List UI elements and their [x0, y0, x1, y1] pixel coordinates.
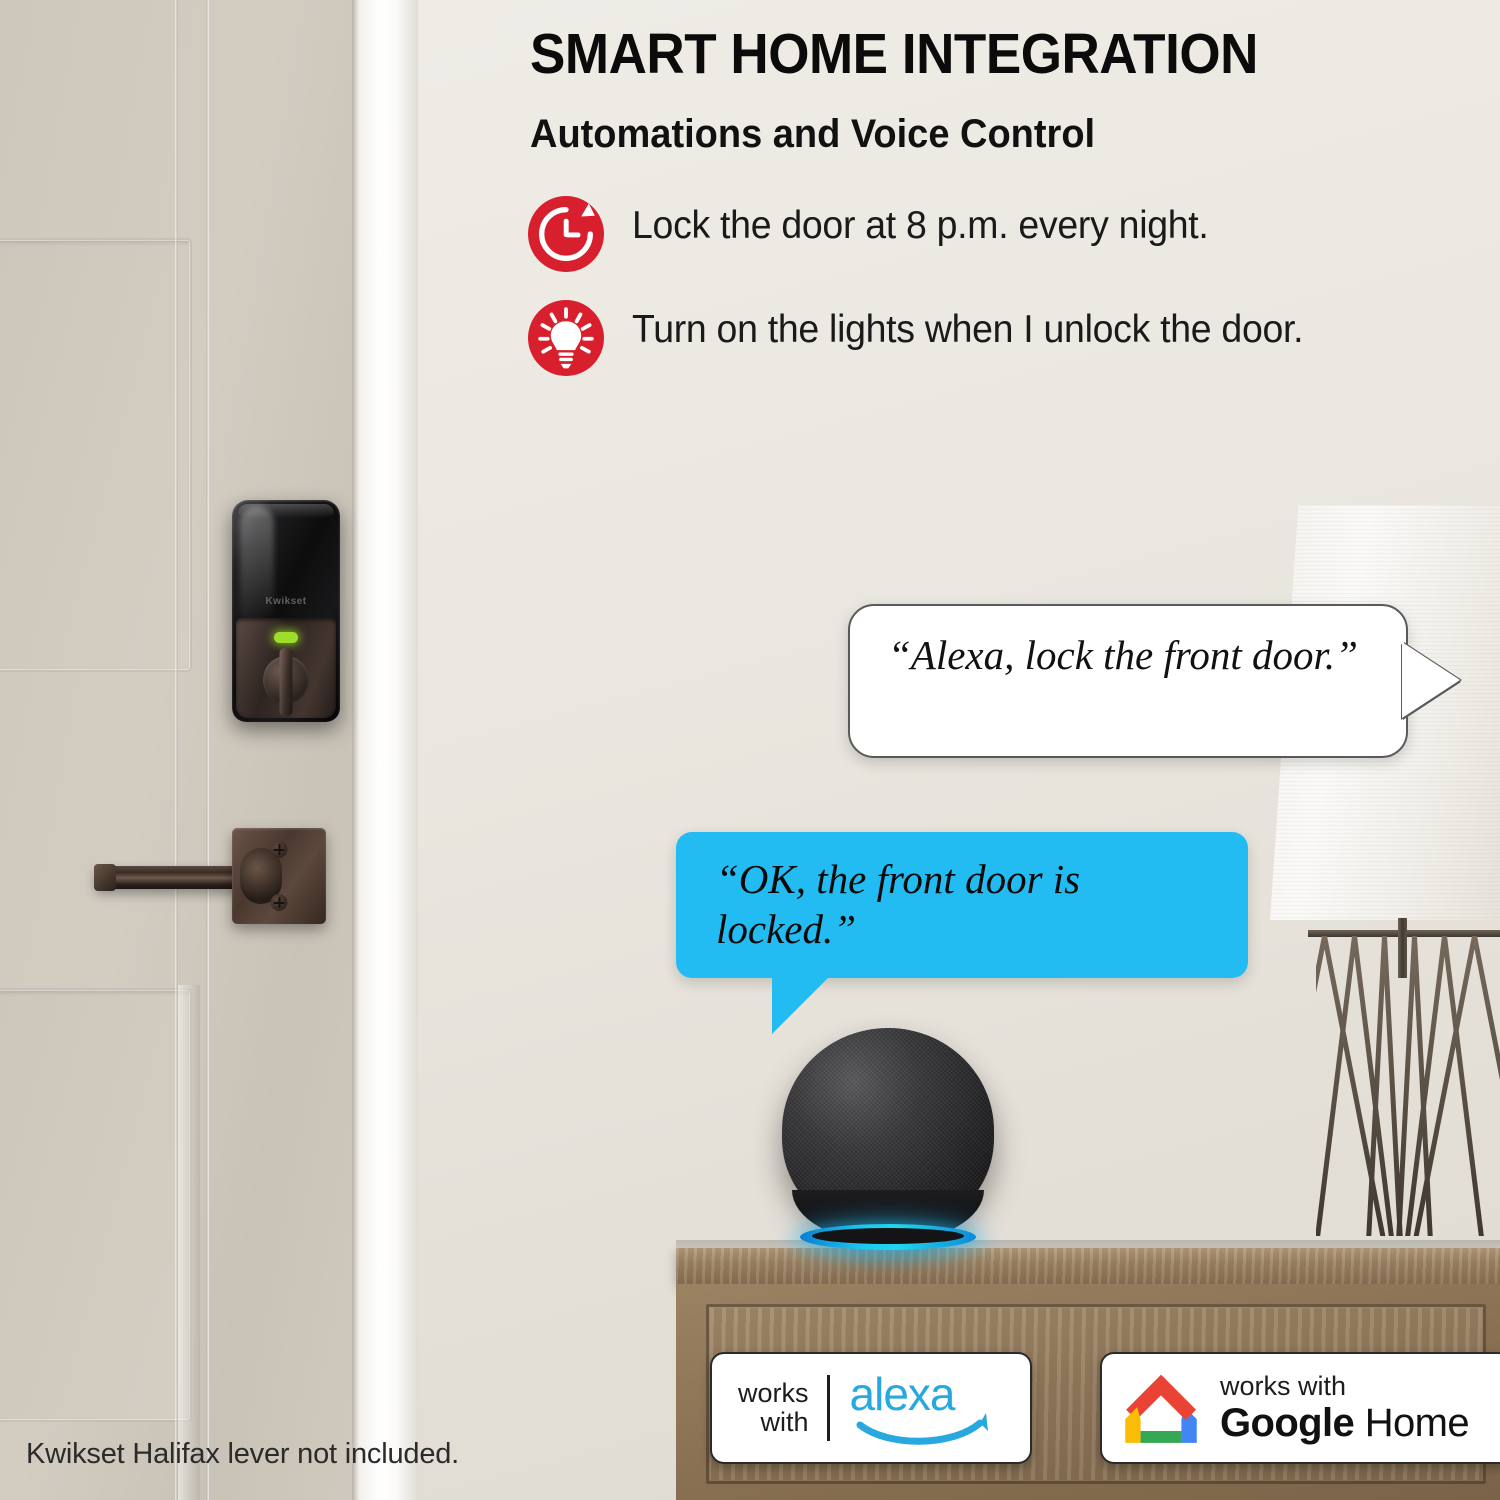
google-word: Google [1220, 1401, 1354, 1445]
works-with-label: works with [726, 1379, 809, 1437]
smart-deadbolt: Kwikset [232, 500, 340, 722]
feature-text: Lock the door at 8 p.m. every night. [632, 196, 1209, 248]
list-item: Turn on the lights when I unlock the doo… [528, 300, 1480, 376]
echo-ring-inner [812, 1228, 964, 1244]
google-home-text: works with Google Home [1220, 1372, 1469, 1444]
thumbturn-bar [280, 648, 293, 716]
door-panel-lower [0, 990, 190, 1420]
footnote-text: Kwikset Halifax lever not included. [26, 1438, 459, 1471]
door-panel-upper [0, 240, 190, 670]
google-home-house-icon [1118, 1368, 1204, 1448]
product-feature-image: Kwikset [0, 0, 1500, 1500]
screw-icon-top [271, 841, 288, 858]
works-with-google-home-badge: works with Google Home [1100, 1352, 1500, 1464]
list-item: Lock the door at 8 p.m. every night. [528, 196, 1480, 272]
door-stile [178, 985, 200, 1500]
bubble-tail-right [1402, 642, 1460, 718]
alexa-logo: alexa [848, 1369, 998, 1447]
bubble-tail-down [772, 978, 828, 1034]
assistant-voice-text: “OK, the front door is locked.” [676, 832, 1248, 978]
status-led-icon [274, 632, 298, 643]
door-seam-right [206, 0, 209, 1500]
door-seam-left [175, 0, 178, 1500]
front-door [0, 0, 360, 1500]
user-voice-bubble: “Alexa, lock the front door.” [848, 604, 1408, 758]
echo-dot-speaker [782, 1028, 994, 1250]
clock-timer-icon [528, 196, 604, 272]
feature-list: Lock the door at 8 p.m. every night. [528, 196, 1480, 404]
page-subtitle: Automations and Voice Control [530, 112, 1385, 156]
page-title: SMART HOME INTEGRATION [530, 26, 1367, 83]
lever-rose-plate [232, 828, 326, 924]
works-with-label: works with [1220, 1372, 1469, 1402]
amazon-smile-icon [848, 1369, 998, 1447]
screw-icon-bottom [271, 894, 288, 911]
deadbolt-top-edge [238, 504, 334, 518]
badge-divider [827, 1375, 830, 1441]
feature-text: Turn on the lights when I unlock the doo… [632, 300, 1303, 352]
light-bulb-icon [528, 300, 604, 376]
deadbolt-gloss [240, 506, 274, 626]
door-casing [352, 0, 424, 1500]
deadbolt-brand-label: Kwikset [232, 596, 340, 607]
with-label: with [738, 1408, 809, 1437]
lever-neck [94, 864, 116, 891]
user-voice-text: “Alexa, lock the front door.” [850, 606, 1406, 706]
assistant-voice-bubble: “OK, the front door is locked.” [676, 832, 1248, 978]
lamp-wire-base [1316, 936, 1500, 1236]
google-home-wordmark: Google Home [1220, 1402, 1469, 1444]
works-label: works [738, 1379, 809, 1408]
home-word: Home [1354, 1401, 1469, 1445]
works-with-alexa-badge: works with alexa [710, 1352, 1032, 1464]
